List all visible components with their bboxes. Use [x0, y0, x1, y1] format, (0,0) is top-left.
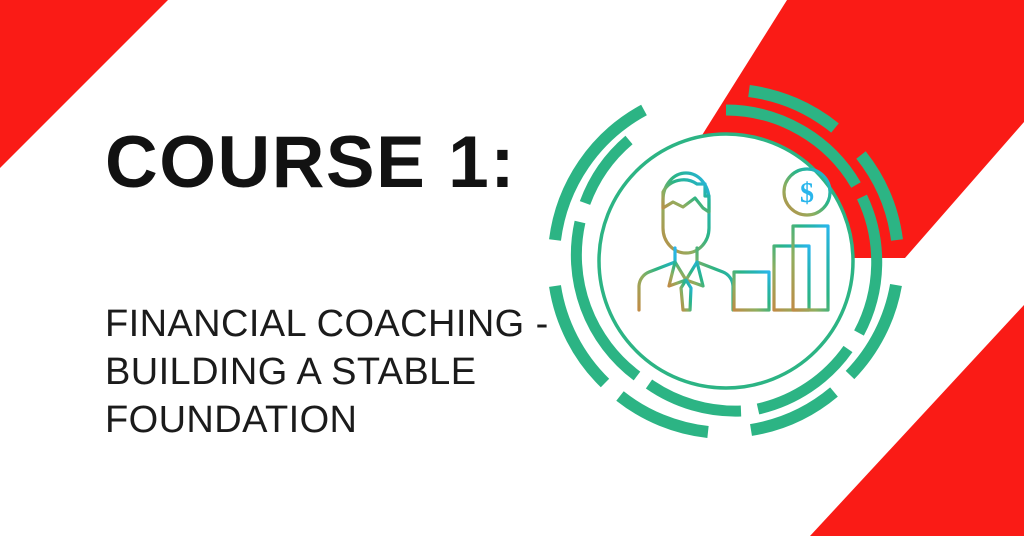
subtitle-line-2: BUILDING A STABLE: [105, 348, 575, 396]
slide-canvas: $ COURSE 1: FINANCIAL COACHING - BUILDIN…: [0, 0, 1024, 536]
subtitle-line-1: FINANCIAL COACHING -: [105, 300, 575, 348]
financial-growth-badge: $: [545, 80, 910, 450]
subtitle-line-3: FOUNDATION: [105, 396, 575, 444]
page-title: COURSE 1:: [105, 126, 565, 199]
dollar-coin-symbol: $: [800, 178, 814, 209]
course-subtitle: FINANCIAL COACHING - BUILDING A STABLE F…: [105, 300, 575, 444]
heading-block: COURSE 1:: [105, 126, 565, 199]
